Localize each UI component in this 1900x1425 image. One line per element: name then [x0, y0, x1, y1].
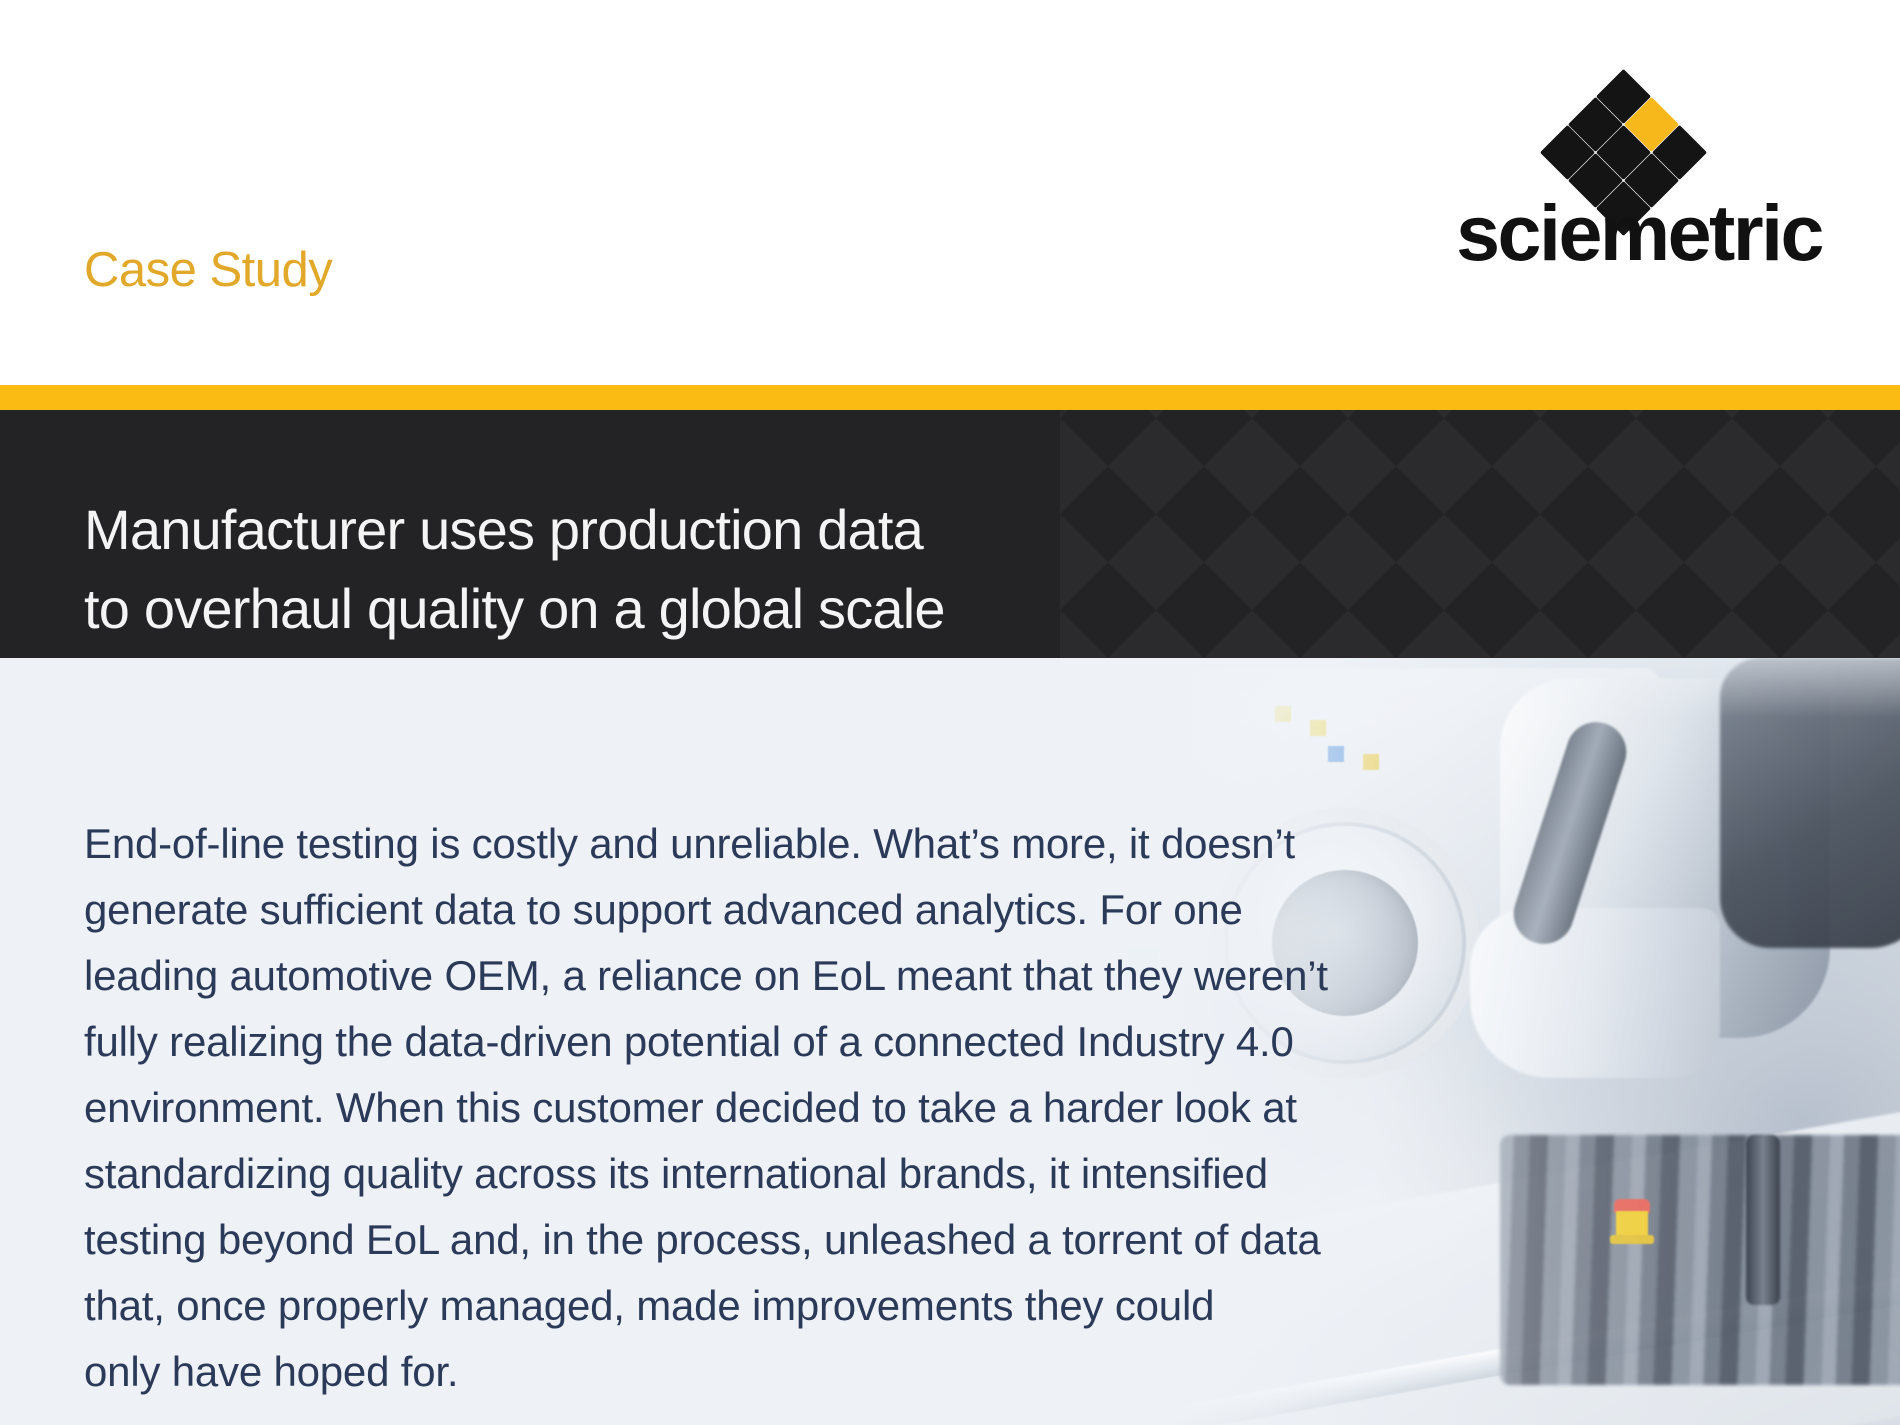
page-header: Case Study sciemetric	[0, 0, 1900, 385]
accent-rule	[0, 385, 1900, 410]
sciemetric-wordmark: sciemetric	[1402, 190, 1822, 276]
page-title: Manufacturer uses production data to ove…	[84, 490, 945, 648]
content-section: End-of-line testing is costly and unreli…	[0, 658, 1900, 1425]
lede-paragraph: End-of-line testing is costly and unreli…	[84, 811, 1429, 1405]
document-kicker: Case Study	[84, 242, 332, 298]
sciemetric-logo: sciemetric	[1402, 74, 1822, 274]
diamond-lattice-mark-icon	[1548, 74, 1700, 206]
case-study-page: Case Study sciemetric	[0, 0, 1900, 1425]
title-banner: Manufacturer uses production data to ove…	[0, 410, 1900, 658]
banner-lattice-pattern	[1060, 410, 1900, 658]
